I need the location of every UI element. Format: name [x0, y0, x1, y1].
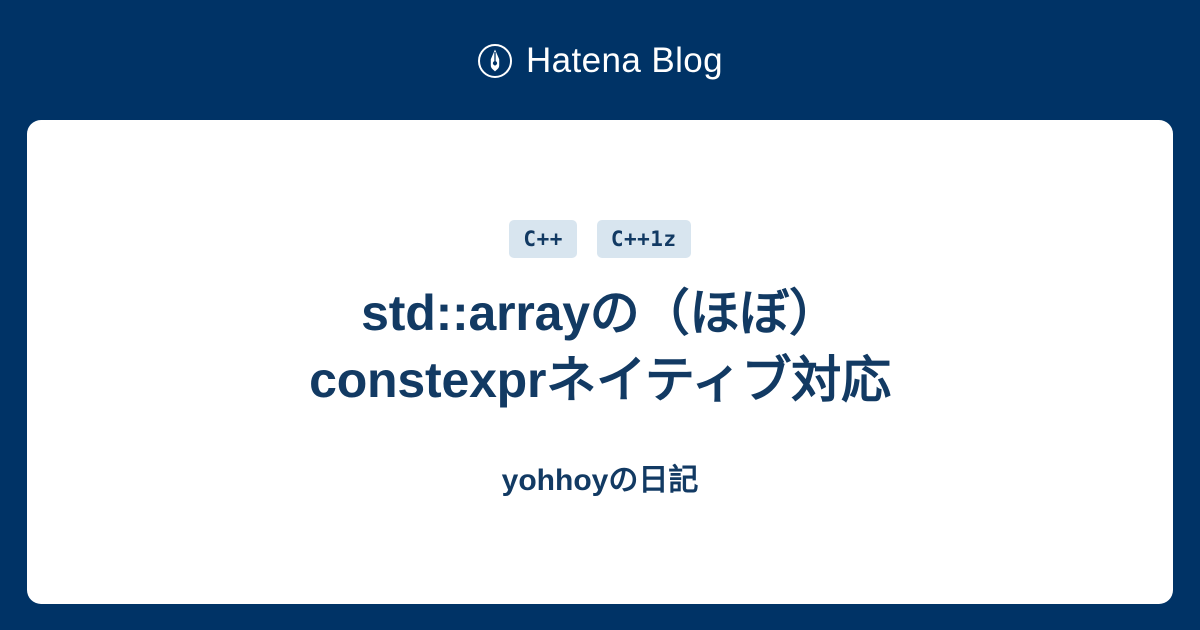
fountain-pen-nib-icon: [477, 41, 513, 79]
tag-list: C++ C++1z: [509, 220, 690, 258]
tag-badge[interactable]: C++: [509, 220, 576, 258]
hatena-blog-brand-name: Hatena Blog: [526, 43, 723, 78]
blog-title: yohhoyの日記: [502, 463, 699, 499]
tag-badge[interactable]: C++1z: [597, 220, 691, 258]
entry-title: std::arrayの（ほぼ）constexprネイティブ対応: [250, 280, 950, 413]
hatena-blog-brand-bar: Hatena Blog: [0, 0, 1200, 120]
entry-card: C++ C++1z std::arrayの（ほぼ）constexprネイティブ対…: [27, 120, 1173, 604]
ogp-card: Hatena Blog C++ C++1z std::arrayの（ほぼ）con…: [0, 0, 1200, 630]
